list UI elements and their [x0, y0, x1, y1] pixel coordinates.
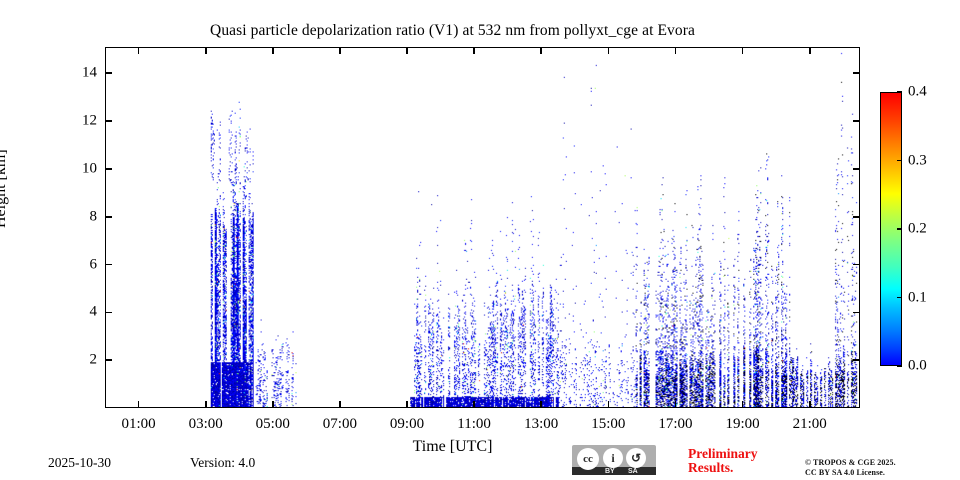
cc-sa-label: SA — [628, 468, 638, 475]
x-tick-11 — [473, 401, 475, 408]
x-tick-15 — [608, 401, 610, 408]
x-tick-17 — [675, 401, 677, 408]
x-tick-top-11 — [473, 47, 475, 54]
version-label: Version: 4.0 — [190, 455, 255, 471]
measurement-date: 2025-10-30 — [48, 455, 111, 471]
cc-by-icon: i — [603, 448, 623, 468]
x-tick-label-9: 09:00 — [372, 416, 442, 433]
y-tick-label-8: 8 — [63, 208, 97, 225]
cc-by-label: BY — [605, 468, 615, 475]
x-tick-label-5: 05:00 — [238, 416, 308, 433]
colorbar-label-0.2: 0.2 — [908, 221, 927, 238]
preliminary-notice: Preliminary Results. — [688, 447, 757, 475]
page-title: Quasi particle depolarization ratio (V1)… — [0, 22, 905, 40]
y-tick-2 — [105, 359, 112, 361]
x-tick-3 — [205, 401, 207, 408]
y-tick-right-14 — [853, 72, 860, 74]
preliminary-line-1: Preliminary — [688, 447, 757, 461]
y-tick-right-2 — [853, 359, 860, 361]
colorbar-label-0.1: 0.1 — [908, 289, 927, 306]
x-tick-label-3: 03:00 — [171, 416, 241, 433]
x-tick-21 — [809, 401, 811, 408]
colorbar-label-0.4: 0.4 — [908, 84, 927, 101]
y-tick-8 — [105, 216, 112, 218]
x-tick-top-19 — [742, 47, 744, 54]
x-tick-label-17: 17:00 — [640, 416, 710, 433]
y-tick-10 — [105, 168, 112, 170]
x-tick-top-9 — [406, 47, 408, 54]
x-tick-top-21 — [809, 47, 811, 54]
x-tick-9 — [406, 401, 408, 408]
x-tick-top-17 — [675, 47, 677, 54]
y-tick-label-2: 2 — [63, 352, 97, 369]
colorbar-tick-0.1 — [897, 297, 902, 299]
y-tick-12 — [105, 120, 112, 122]
preliminary-line-2: Results. — [688, 461, 757, 475]
colorbar-tick-0.2 — [897, 228, 902, 230]
y-tick-right-4 — [853, 312, 860, 314]
x-tick-top-7 — [339, 47, 341, 54]
x-tick-top-3 — [205, 47, 207, 54]
y-tick-label-6: 6 — [63, 256, 97, 273]
colorbar-tick-0.3 — [897, 160, 902, 162]
x-tick-label-21: 21:00 — [775, 416, 845, 433]
y-axis-title: Height [km] — [0, 149, 10, 228]
y-tick-label-4: 4 — [63, 304, 97, 321]
cc-license-badge[interactable]: cc i ↺ BY SA — [572, 445, 656, 475]
x-tick-label-13: 13:00 — [506, 416, 576, 433]
x-tick-top-15 — [608, 47, 610, 54]
y-tick-right-6 — [853, 264, 860, 266]
quicklook-figure: Quasi particle depolarization ratio (V1)… — [0, 0, 960, 480]
plot-area[interactable] — [105, 47, 860, 408]
x-tick-13 — [540, 401, 542, 408]
x-tick-label-15: 15:00 — [573, 416, 643, 433]
y-tick-label-10: 10 — [63, 160, 97, 177]
colorbar-label-0.0: 0.0 — [908, 358, 927, 375]
x-tick-5 — [272, 401, 274, 408]
y-tick-14 — [105, 72, 112, 74]
y-tick-right-10 — [853, 168, 860, 170]
cc-sa-icon: ↺ — [626, 448, 646, 468]
depolarization-heatmap — [106, 48, 859, 407]
cc-icon: cc — [577, 448, 599, 470]
x-tick-19 — [742, 401, 744, 408]
x-tick-label-19: 19:00 — [708, 416, 778, 433]
x-tick-1 — [138, 401, 140, 408]
copyright-notice: © TROPOS & CGE 2025. CC BY SA 4.0 Licens… — [805, 458, 896, 477]
x-axis-title: Time [UTC] — [0, 438, 905, 456]
x-tick-label-7: 07:00 — [305, 416, 375, 433]
copyright-line-2: CC BY SA 4.0 License. — [805, 468, 896, 478]
y-tick-label-14: 14 — [63, 65, 97, 82]
x-tick-top-5 — [272, 47, 274, 54]
y-tick-4 — [105, 312, 112, 314]
x-tick-top-13 — [540, 47, 542, 54]
colorbar-tick-0.4 — [897, 91, 902, 93]
x-tick-label-1: 01:00 — [104, 416, 174, 433]
x-tick-7 — [339, 401, 341, 408]
colorbar-label-0.3: 0.3 — [908, 152, 927, 169]
x-tick-label-11: 11:00 — [439, 416, 509, 433]
copyright-line-1: © TROPOS & CGE 2025. — [805, 458, 896, 468]
colorbar-tick-0.0 — [897, 365, 902, 367]
x-tick-top-1 — [138, 47, 140, 54]
y-tick-label-12: 12 — [63, 113, 97, 130]
y-tick-right-8 — [853, 216, 860, 218]
y-tick-right-12 — [853, 120, 860, 122]
y-tick-6 — [105, 264, 112, 266]
